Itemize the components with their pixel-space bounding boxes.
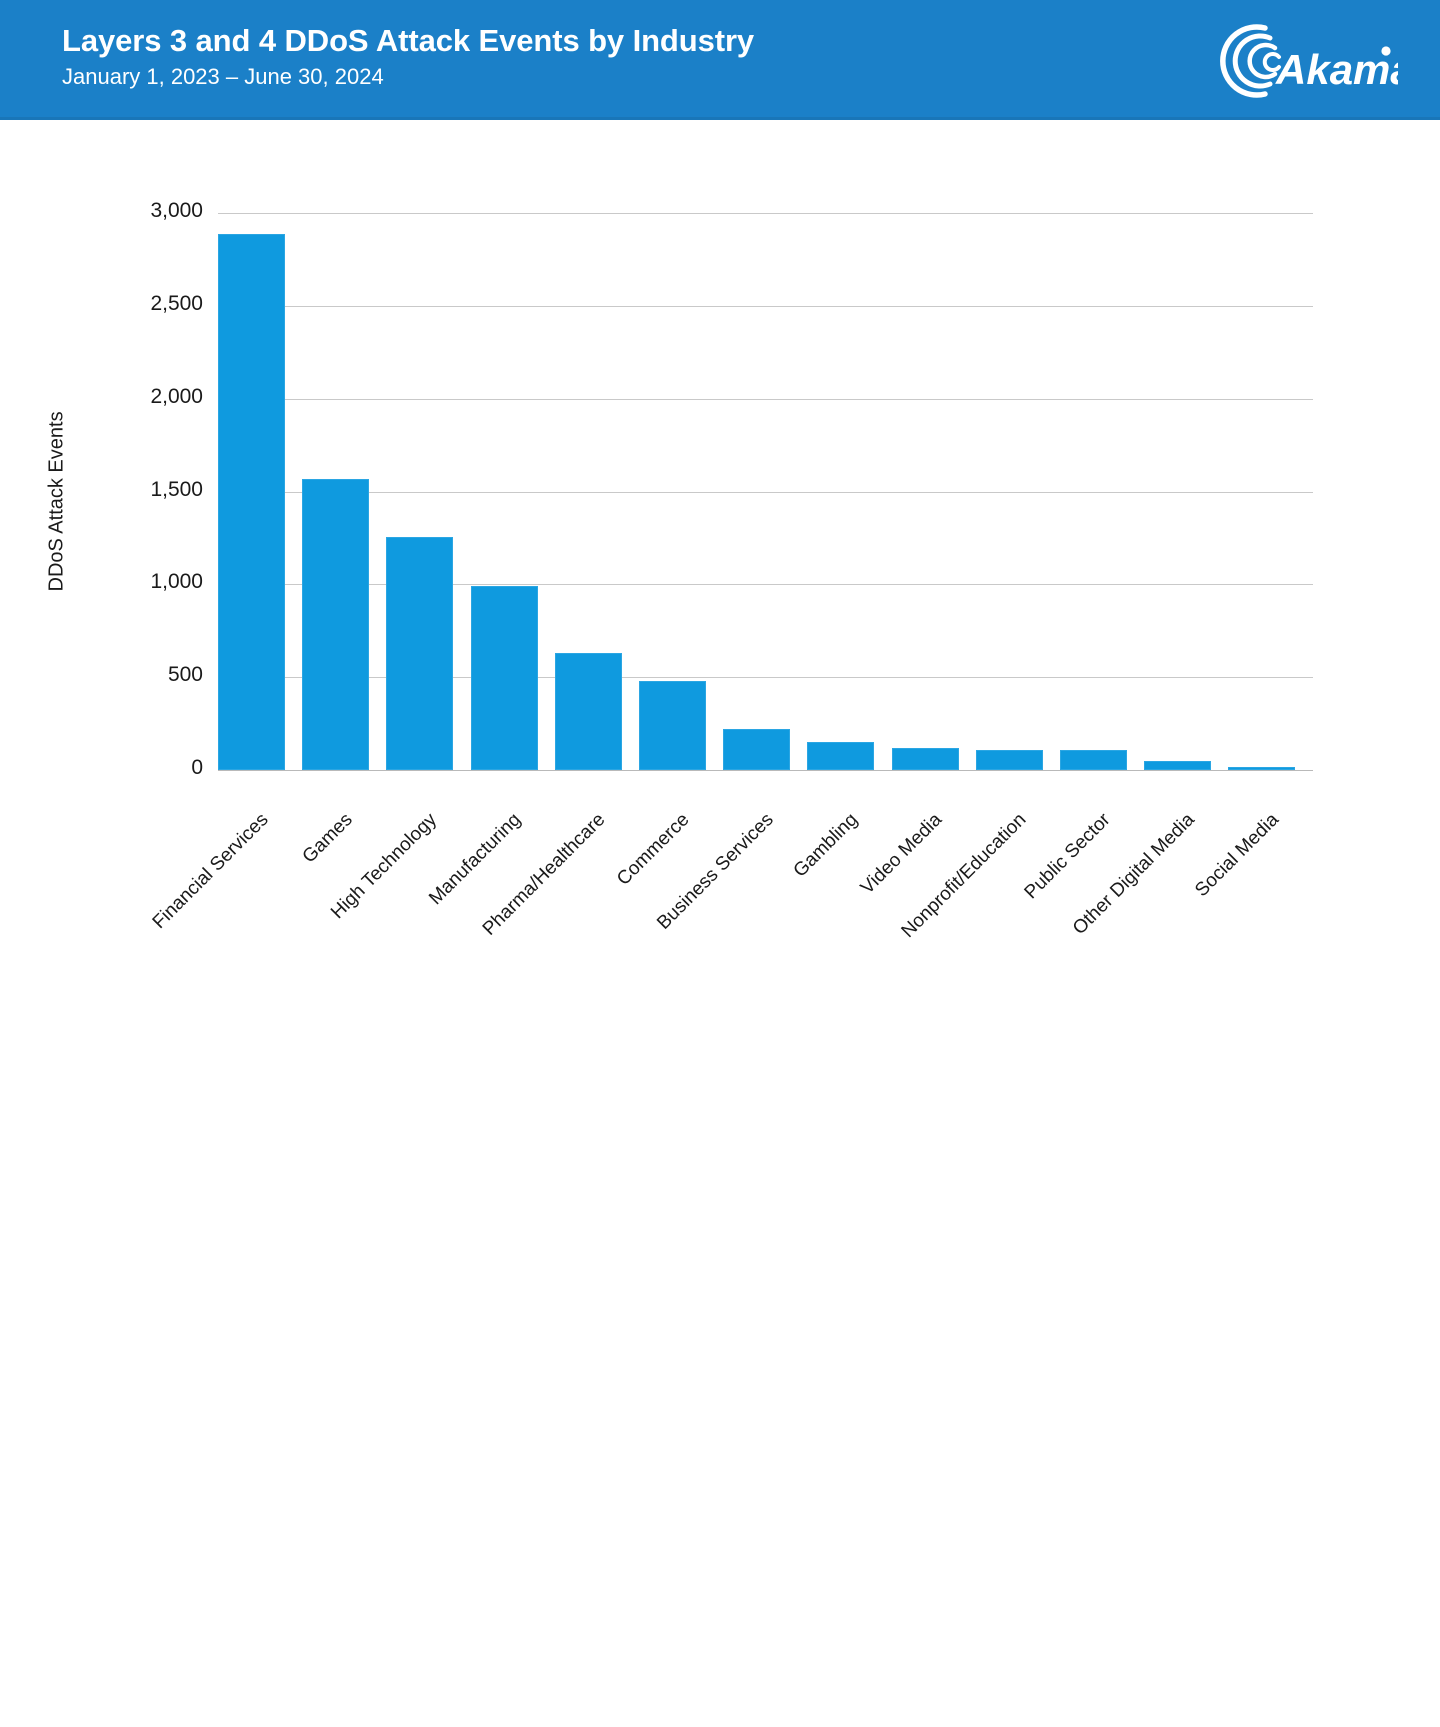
bar[interactable] xyxy=(1144,761,1211,770)
y-axis-tick-label: 2,500 xyxy=(53,292,203,316)
bar[interactable] xyxy=(302,479,369,770)
y-axis-tick-label: 1,500 xyxy=(53,478,203,502)
bar[interactable] xyxy=(1060,750,1127,770)
page-title: Layers 3 and 4 DDoS Attack Events by Ind… xyxy=(62,22,754,60)
bar[interactable] xyxy=(386,537,453,770)
bar[interactable] xyxy=(892,748,959,770)
bar-chart: DDoS Attack Events 05001,0001,5002,0002,… xyxy=(0,120,1440,1041)
bar[interactable] xyxy=(471,586,538,770)
y-axis-title: DDoS Attack Events xyxy=(46,432,69,592)
akamai-logo: Akamai xyxy=(1218,18,1398,102)
y-axis-tick-label: 1,000 xyxy=(53,570,203,594)
bar[interactable] xyxy=(723,729,790,770)
y-axis-tick-label: 500 xyxy=(53,663,203,687)
akamai-wordmark-dot xyxy=(1381,46,1390,55)
bar[interactable] xyxy=(639,681,706,770)
y-axis-tick-label: 0 xyxy=(53,756,203,780)
bar[interactable] xyxy=(555,653,622,770)
y-axis-tick-label: 2,000 xyxy=(53,385,203,409)
bar[interactable] xyxy=(218,234,285,770)
y-axis-tick-label: 3,000 xyxy=(53,199,203,223)
page-subtitle: January 1, 2023 – June 30, 2024 xyxy=(62,62,754,92)
header-text-block: Layers 3 and 4 DDoS Attack Events by Ind… xyxy=(62,22,754,92)
bar[interactable] xyxy=(1228,767,1295,770)
page-header: Layers 3 and 4 DDoS Attack Events by Ind… xyxy=(0,0,1440,120)
bar[interactable] xyxy=(807,742,874,770)
bar[interactable] xyxy=(976,750,1043,770)
akamai-wordmark: Akamai xyxy=(1275,46,1398,93)
